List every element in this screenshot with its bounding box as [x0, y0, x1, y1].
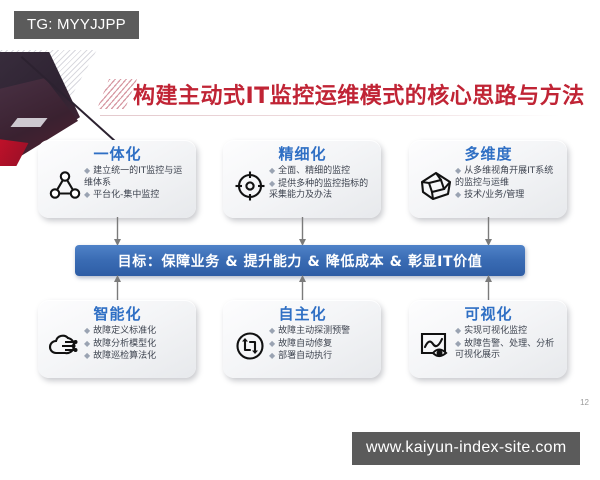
bullet-text: 故障自动修复	[278, 339, 332, 349]
card-bullet-list: ◆实现可视化监控 ◆故障告警、处理、分析可视化展示	[455, 325, 560, 362]
card-title: 可视化	[417, 306, 560, 323]
bullet-diamond-icon: ◆	[269, 179, 275, 188]
card-bullet-list: ◆故障定义标准化 ◆故障分析模型化 ◆故障巡检算法化	[84, 325, 189, 363]
bullet-diamond-icon: ◆	[269, 326, 275, 335]
bullet-diamond-icon: ◆	[455, 190, 461, 199]
card-keshihua[interactable]: 可视化 ◆实现可视化监控 ◆故障告警、处理、分析可视化展示	[409, 300, 567, 378]
goal-banner[interactable]: 目标：保障业务 & 提升能力 & 降低成本 & 彰显IT价值	[75, 245, 525, 276]
connector-arrow-up	[484, 275, 493, 302]
card-title: 多维度	[417, 146, 560, 163]
share-network-icon	[46, 166, 84, 206]
bullet-diamond-icon: ◆	[455, 166, 461, 175]
connector-arrow-down	[113, 217, 122, 247]
red-accent-shape	[0, 138, 38, 166]
chart-eye-icon	[417, 326, 455, 366]
bullet-diamond-icon: ◆	[269, 339, 275, 348]
bullet-text: 故障巡检算法化	[93, 351, 156, 361]
card-bullet-list: ◆故障主动探测预警 ◆故障自动修复 ◆部署自动执行	[269, 325, 374, 363]
card-title: 精细化	[231, 146, 374, 163]
card-title: 一体化	[46, 146, 189, 163]
connector-arrow-up	[113, 275, 122, 302]
bullet-text: 故障告警、处理、分析可视化展示	[455, 339, 554, 361]
smart-cloud-icon	[46, 326, 84, 366]
bullet-text: 建立统一的IT监控与运维体系	[84, 166, 182, 188]
bullet-diamond-icon: ◆	[84, 166, 90, 175]
card-bullet-list: ◆从多维视角开展IT系统的监控与运维 ◆技术/业务/管理	[455, 165, 560, 202]
title-underline-rule	[100, 115, 560, 116]
bullet-text: 实现可视化监控	[464, 326, 527, 336]
bullet-text: 故障定义标准化	[93, 326, 156, 336]
pink-hatch-title-marker	[97, 79, 137, 109]
bullet-text: 全面、精细的监控	[278, 166, 350, 176]
bullet-diamond-icon: ◆	[269, 351, 275, 360]
card-yitihua[interactable]: 一体化 ◆建立统一的IT监控与运维体系 ◆平台化-集中监控	[38, 140, 196, 218]
goal-banner-text: 目标：保障业务 & 提升能力 & 降低成本 & 彰显IT价值	[118, 251, 483, 271]
bullet-text: 提供多种的监控指标的采集能力及办法	[269, 179, 368, 201]
bullet-diamond-icon: ◆	[84, 190, 90, 199]
bullet-diamond-icon: ◆	[455, 339, 461, 348]
polyhedron-cube-icon	[417, 166, 455, 206]
bullet-diamond-icon: ◆	[84, 339, 90, 348]
bullet-text: 故障分析模型化	[93, 339, 156, 349]
connector-arrow-down	[298, 217, 307, 247]
card-title: 自主化	[231, 306, 374, 323]
bullet-text: 从多维视角开展IT系统的监控与运维	[455, 166, 553, 188]
target-crosshair-icon	[231, 166, 269, 206]
refresh-cycle-icon	[231, 326, 269, 366]
slide-canvas: 构建主动式IT监控运维模式的核心思路与方法 一体化 ◆建立统一的IT监控与运维体…	[0, 50, 600, 420]
card-zhinenghua[interactable]: 智能化 ◆故障定义标准化 ◆故障分析模型化 ◆故障巡检算法化	[38, 300, 196, 378]
slide-title: 构建主动式IT监控运维模式的核心思路与方法	[133, 78, 585, 110]
bullet-text: 故障主动探测预警	[278, 326, 350, 336]
card-zizhuhua[interactable]: 自主化 ◆故障主动探测预警 ◆故障自动修复 ◆部署自动执行	[223, 300, 381, 378]
card-title: 智能化	[46, 306, 189, 323]
page-number: 12	[580, 398, 589, 407]
hatch-triangle-shape	[0, 50, 99, 138]
card-bullet-list: ◆全面、精细的监控 ◆提供多种的监控指标的采集能力及办法	[269, 165, 374, 202]
card-duoweidu[interactable]: 多维度 ◆从多维视角开展IT系统的监控与运维 ◆技术/业务/管理	[409, 140, 567, 218]
bullet-diamond-icon: ◆	[84, 351, 90, 360]
bullet-text: 部署自动执行	[278, 351, 332, 361]
connector-arrow-down	[484, 217, 493, 247]
card-jingxihua[interactable]: 精细化 ◆全面、精细的监控 ◆提供多种的监控指标的采集能力及办法	[223, 140, 381, 218]
card-bullet-list: ◆建立统一的IT监控与运维体系 ◆平台化-集中监控	[84, 165, 189, 202]
bullet-diamond-icon: ◆	[84, 326, 90, 335]
site-watermark-badge: www.kaiyun-index-site.com	[352, 432, 580, 465]
bullet-diamond-icon: ◆	[455, 326, 461, 335]
bullet-text: 技术/业务/管理	[464, 190, 524, 200]
light-slash-shape	[10, 118, 47, 127]
tg-watermark-badge: TG: MYYJJPP	[14, 11, 139, 39]
bullet-diamond-icon: ◆	[269, 166, 275, 175]
connector-arrow-up	[298, 275, 307, 302]
bullet-text: 平台化-集中监控	[93, 190, 159, 200]
